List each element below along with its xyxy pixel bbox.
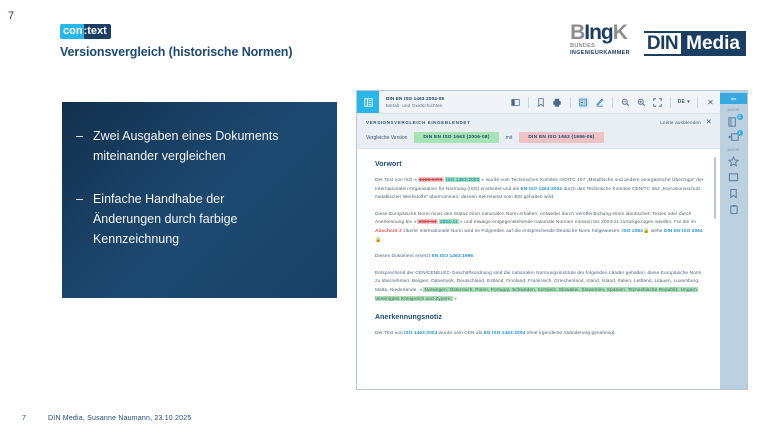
change-marker-next-icon[interactable]: ▸ xyxy=(454,296,457,302)
p1-text-a: Der Text von ISO xyxy=(375,177,414,182)
slide-footer: 7 DIN Media, Susanne Naumann, 23.10.2025 xyxy=(22,415,191,422)
p5-text-b: wurde vom CEN als xyxy=(437,330,483,335)
app-header: DIN EN ISO 1463:2004-08 Metall- und Oxid… xyxy=(357,91,720,114)
footer-text: DIN Media, Susanne Naumann, 23.10.2025 xyxy=(48,415,191,422)
toolbar-divider xyxy=(612,97,613,108)
notes-icon[interactable] xyxy=(727,171,741,184)
toggle-sidebar-icon[interactable] xyxy=(510,97,521,108)
collapse-glyph: ⇦ xyxy=(731,95,737,103)
list-item: – Einfache Handhabe der Änderungen durch… xyxy=(76,189,321,250)
toolbar-divider xyxy=(528,97,529,108)
collapse-rail-icon[interactable]: ⇦ xyxy=(720,93,747,104)
context-logo-part2: :text xyxy=(84,24,111,39)
version-compare-bar: VERSIONSVERGLEICH EINGEBLENDET Leiste au… xyxy=(357,114,720,149)
bullet-text: Einfache Handhabe der Änderungen durch f… xyxy=(93,189,293,250)
p3-text-b: . xyxy=(473,253,474,258)
section-link[interactable]: Abschnitt 2 xyxy=(375,228,402,233)
slide-root: 7 con :text Versionsvergleich (historisc… xyxy=(0,0,768,432)
p3-text-a: Dieses Dokument ersetzt xyxy=(375,253,432,258)
list-item: – Zwei Ausgaben eines Dokuments miteinan… xyxy=(76,126,321,167)
status-badge: VERSIONSVERGLEICH EINGEBLENDET xyxy=(366,120,470,125)
zoom-in-icon[interactable] xyxy=(636,97,647,108)
p2-text-e: . xyxy=(381,237,382,242)
document-content[interactable]: Vorwort Der Text von ISO ◂ 1463:1996 ISO… xyxy=(357,149,720,389)
p2-text-d: siehe xyxy=(649,228,664,233)
standard-link[interactable]: ISO 1463:2003 xyxy=(404,330,437,335)
standard-link[interactable]: EN ISO 1463:2004 xyxy=(521,186,563,191)
favorites-star-icon[interactable] xyxy=(727,155,741,168)
toolbar-divider xyxy=(697,97,698,108)
close-icon: ✕ xyxy=(706,118,712,126)
bookmark-icon[interactable] xyxy=(536,97,547,108)
standard-link[interactable]: DIN EN ISO 2064 xyxy=(664,228,703,233)
toolbar-divider xyxy=(670,97,671,108)
standard-link[interactable]: EN ISO 1463:1996 xyxy=(432,253,474,258)
bookmark-icon[interactable] xyxy=(727,187,741,200)
paragraph-5: Der Text von ISO 1463:2003 wurde vom CEN… xyxy=(375,329,706,338)
footer-slide-number: 7 xyxy=(22,415,32,422)
paragraph-3: Dieses Dokument ersetzt EN ISO 1463:1996… xyxy=(375,252,706,261)
document-title: DIN EN ISO 1463:2004-08 xyxy=(386,96,510,102)
bullet-dash: – xyxy=(76,189,83,250)
document-icon xyxy=(357,91,379,113)
logo-group: BIngK BUNDES INGENIEURKAMMER DIN Media xyxy=(570,22,746,56)
section-heading-anerkennungsnotiz: Anerkennungsnotiz xyxy=(375,314,706,321)
compare-versions-icon[interactable] xyxy=(578,97,589,108)
bingk-letter-b: B xyxy=(570,21,584,44)
inserted-block-text: Norwegen, Österreich, Polen, Portugal, S… xyxy=(375,287,698,301)
my-documents-icon[interactable]: 3 xyxy=(727,115,741,128)
paragraph-1: Der Text von ISO ◂ 1463:1996 ISO 1463:20… xyxy=(375,176,706,202)
bullet-dash: – xyxy=(76,126,83,167)
page-title: Versionsvergleich (historische Normen) xyxy=(60,45,292,59)
p5-text-c: ohne irgendeine Abänderung genehmigt. xyxy=(525,330,616,335)
app-window: DIN EN ISO 1463:2004-08 Metall- und Oxid… xyxy=(357,91,720,389)
rail-caption-2: MEIN xyxy=(728,147,740,152)
bingk-wordmark: BIngK xyxy=(570,22,627,43)
bullet-panel: – Zwei Ausgaben eines Dokuments miteinan… xyxy=(62,102,337,298)
badge-count: 3 xyxy=(737,114,743,120)
rail-caption-1: MEIN xyxy=(728,107,740,112)
bingk-letter-ing: Ing xyxy=(584,21,613,44)
my-updates-icon[interactable]: 1 xyxy=(727,131,741,144)
document-titles: DIN EN ISO 1463:2004-08 Metall- und Oxid… xyxy=(386,96,510,109)
bingk-subline-2: INGENIEURKAMMER xyxy=(570,51,630,57)
hide-bar-control[interactable]: Leiste ausblenden ✕ xyxy=(660,118,712,126)
din-wordmark: DIN xyxy=(644,31,681,56)
media-wordmark: Media xyxy=(681,31,746,56)
context-logo-part1: con xyxy=(60,24,84,39)
language-label: DE xyxy=(678,99,686,105)
close-icon[interactable]: ✕ xyxy=(705,97,716,108)
toolbar-divider xyxy=(570,97,571,108)
zoom-out-icon[interactable] xyxy=(620,97,631,108)
language-selector[interactable]: DE ▾ xyxy=(678,99,690,105)
toolbar: DE ▾ ✕ xyxy=(510,97,720,108)
change-marker-prev-icon[interactable]: ◂ xyxy=(419,287,422,293)
chevron-down-icon: ▾ xyxy=(687,99,690,105)
clipboard-icon[interactable] xyxy=(727,203,741,216)
app-screenshot: DIN EN ISO 1463:2004-08 Metall- und Oxid… xyxy=(356,90,748,390)
p5-text-a: Der Text von xyxy=(375,330,404,335)
bullet-text: Zwei Ausgaben eines Dokuments miteinande… xyxy=(93,126,293,167)
inserted-text: 2004-11 xyxy=(439,219,459,224)
change-marker-prev-icon[interactable]: ◂ xyxy=(413,219,416,225)
version-compare-status-row: VERSIONSVERGLEICH EINGEBLENDET Leiste au… xyxy=(366,118,712,126)
bullet-list: – Zwei Ausgaben eines Dokuments miteinan… xyxy=(62,102,337,249)
bingk-letter-k: K xyxy=(613,21,627,44)
version-chip-new[interactable]: DIN EN ISO 1663 (2006-08) xyxy=(414,132,498,143)
p2-text-c: zitierte Internationale Norm wird im Fol… xyxy=(402,228,622,233)
standard-link[interactable]: EN ISO 1463:2004 xyxy=(484,330,526,335)
deleted-text: 1996-04 xyxy=(417,219,437,224)
paragraph-4: Entsprechend der CEN/CENELEC-Geschäftsor… xyxy=(375,269,706,303)
compare-version-label: Vergleiche Version xyxy=(366,135,407,141)
document-subtitle: Metall- und Oxidschichten xyxy=(386,103,510,109)
standard-link[interactable]: ISO 2064 xyxy=(622,228,643,233)
context-logo: con :text xyxy=(60,24,111,39)
compare-conjunction: mit xyxy=(506,135,513,141)
close-glyph: ✕ xyxy=(707,98,714,107)
paragraph-2: Diese Europäische Norm muss den Status e… xyxy=(375,210,706,244)
version-compare-selection-row: Vergleiche Version DIN EN ISO 1663 (2006… xyxy=(366,132,712,143)
print-icon[interactable] xyxy=(552,97,563,108)
highlighter-pen-icon[interactable] xyxy=(594,97,605,108)
inserted-text: ISO 1463:2003 xyxy=(445,177,480,182)
right-icon-rail: ⇦ MEIN 3 1 MEIN xyxy=(720,91,747,389)
change-marker-prev-icon[interactable]: ◂ xyxy=(414,177,417,183)
section-heading-vorwort: Vorwort xyxy=(375,161,706,168)
slide-number-top: 7 xyxy=(8,10,14,22)
hide-bar-label: Leiste ausblenden xyxy=(660,120,701,125)
scrollbar[interactable] xyxy=(714,157,716,219)
p2-text-b: und etwaige entgegenstehende nationale N… xyxy=(463,219,696,224)
fullscreen-icon[interactable] xyxy=(652,97,663,108)
bingk-subline-1: BUNDES xyxy=(570,44,595,50)
deleted-text: 1463:1996 xyxy=(418,177,444,182)
version-chip-old[interactable]: DIN EN ISO 1663 (1996-06) xyxy=(519,132,603,143)
din-media-logo: DIN Media xyxy=(644,31,746,56)
badge-count: 1 xyxy=(737,130,743,136)
bingk-logo: BIngK BUNDES INGENIEURKAMMER xyxy=(570,22,630,56)
